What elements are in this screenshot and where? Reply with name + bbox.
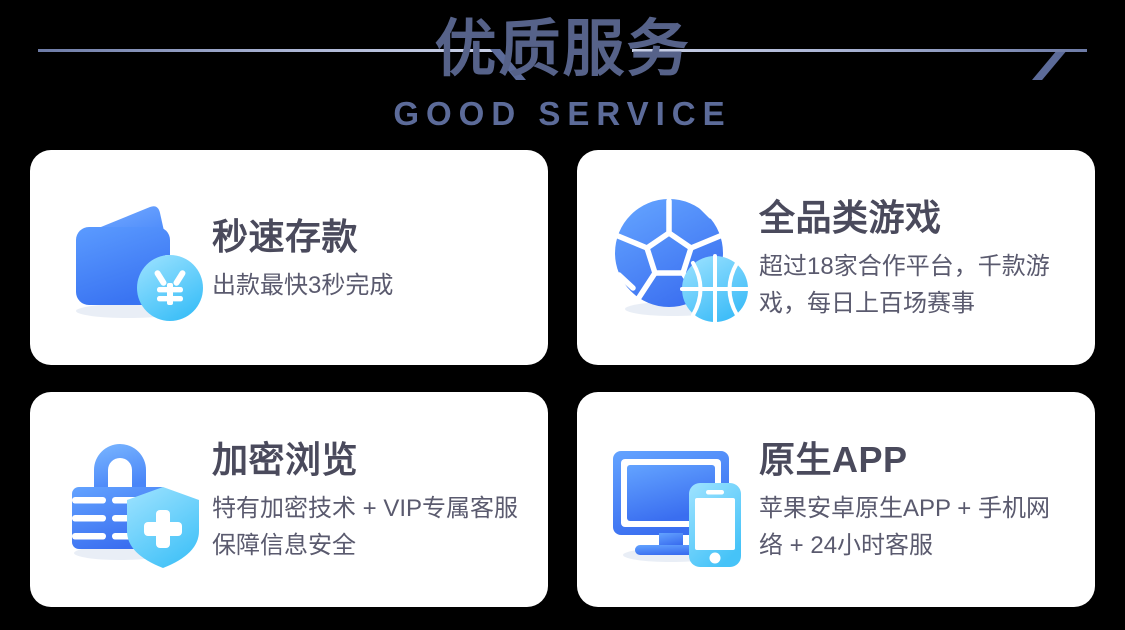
card-description: 苹果安卓原生APP + 手机网络 + 24小时客服	[759, 490, 1069, 564]
card-description: 超过18家合作平台，千款游戏，每日上百场赛事	[759, 248, 1069, 322]
feature-card-games[interactable]: 全品类游戏 超过18家合作平台，千款游戏，每日上百场赛事	[577, 150, 1095, 365]
card-description: 特有加密技术 + VIP专属客服保障信息安全	[212, 490, 522, 564]
soccer-basketball-icon-glyph	[605, 183, 755, 333]
feature-card-encryption[interactable]: 加密浏览 特有加密技术 + VIP专属客服保障信息安全	[30, 392, 548, 607]
lock-shield-icon-glyph	[58, 425, 208, 575]
feature-card-native-app[interactable]: 原生APP 苹果安卓原生APP + 手机网络 + 24小时客服	[577, 392, 1095, 607]
card-title: 全品类游戏	[759, 195, 1069, 241]
card-text-block: 原生APP 苹果安卓原生APP + 手机网络 + 24小时客服	[755, 435, 1069, 564]
monitor-phone-icon	[605, 425, 755, 575]
page-title: 优质服务	[0, 12, 1125, 88]
wallet-yen-icon-glyph	[58, 183, 208, 333]
card-text-block: 全品类游戏 超过18家合作平台，千款游戏，每日上百场赛事	[755, 193, 1069, 322]
feature-card-deposit[interactable]: 秒速存款 出款最快3秒完成	[30, 150, 548, 365]
card-description: 出款最快3秒完成	[212, 267, 393, 304]
card-title: 加密浏览	[212, 437, 522, 483]
card-text-block: 加密浏览 特有加密技术 + VIP专属客服保障信息安全	[208, 435, 522, 564]
card-title: 秒速存款	[212, 214, 393, 260]
monitor-phone-icon-glyph	[605, 425, 755, 575]
page-header: 优质服务 GOOD SERVICE	[0, 0, 1125, 146]
lock-shield-icon	[58, 425, 208, 575]
card-text-block: 秒速存款 出款最快3秒完成	[208, 212, 393, 304]
page-subtitle: GOOD SERVICE	[0, 94, 1125, 134]
feature-card-grid: 秒速存款 出款最快3秒完成	[30, 150, 1095, 607]
soccer-basketball-icon	[605, 183, 755, 333]
wallet-yen-icon	[58, 183, 208, 333]
card-title: 原生APP	[759, 437, 1069, 483]
